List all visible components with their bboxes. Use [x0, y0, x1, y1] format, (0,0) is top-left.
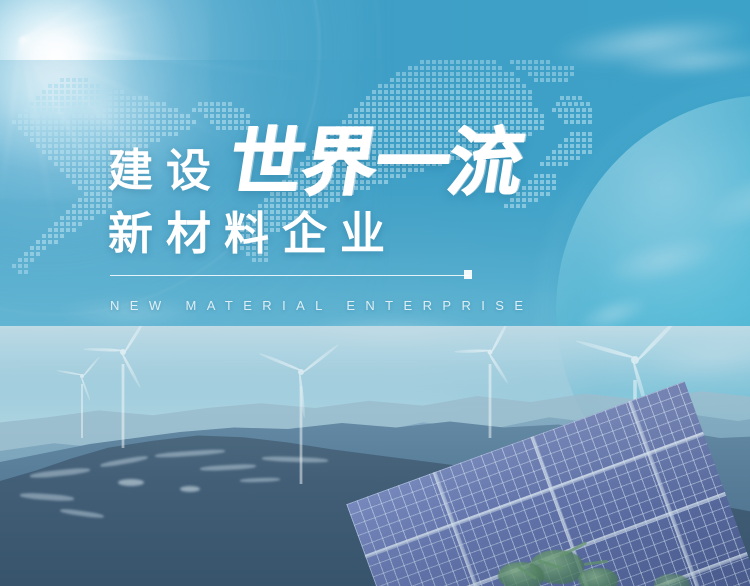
wind-turbine: [466, 352, 514, 438]
headline-emphasis-text: 世界一流: [224, 126, 528, 200]
wind-turbine: [270, 372, 332, 484]
headline-line-1: 建设 世界一流: [108, 126, 648, 208]
headline-block: 建设 世界一流 新材料企业: [108, 126, 648, 257]
subtitle-text: NEW MATERIAL ENTERPRISE: [110, 298, 533, 313]
corporate-banner: 建设 世界一流 新材料企业 NEW MATERIAL ENTERPRISE: [0, 0, 750, 586]
headline-line-2: 新材料企业: [108, 210, 648, 257]
headline-plain-text: 建设: [108, 148, 224, 193]
wind-turbine: [96, 352, 150, 448]
wind-turbine: [64, 376, 100, 438]
landscape-scene: [0, 326, 750, 586]
divider-end-cap: [464, 270, 472, 279]
divider-line: [110, 275, 470, 276]
